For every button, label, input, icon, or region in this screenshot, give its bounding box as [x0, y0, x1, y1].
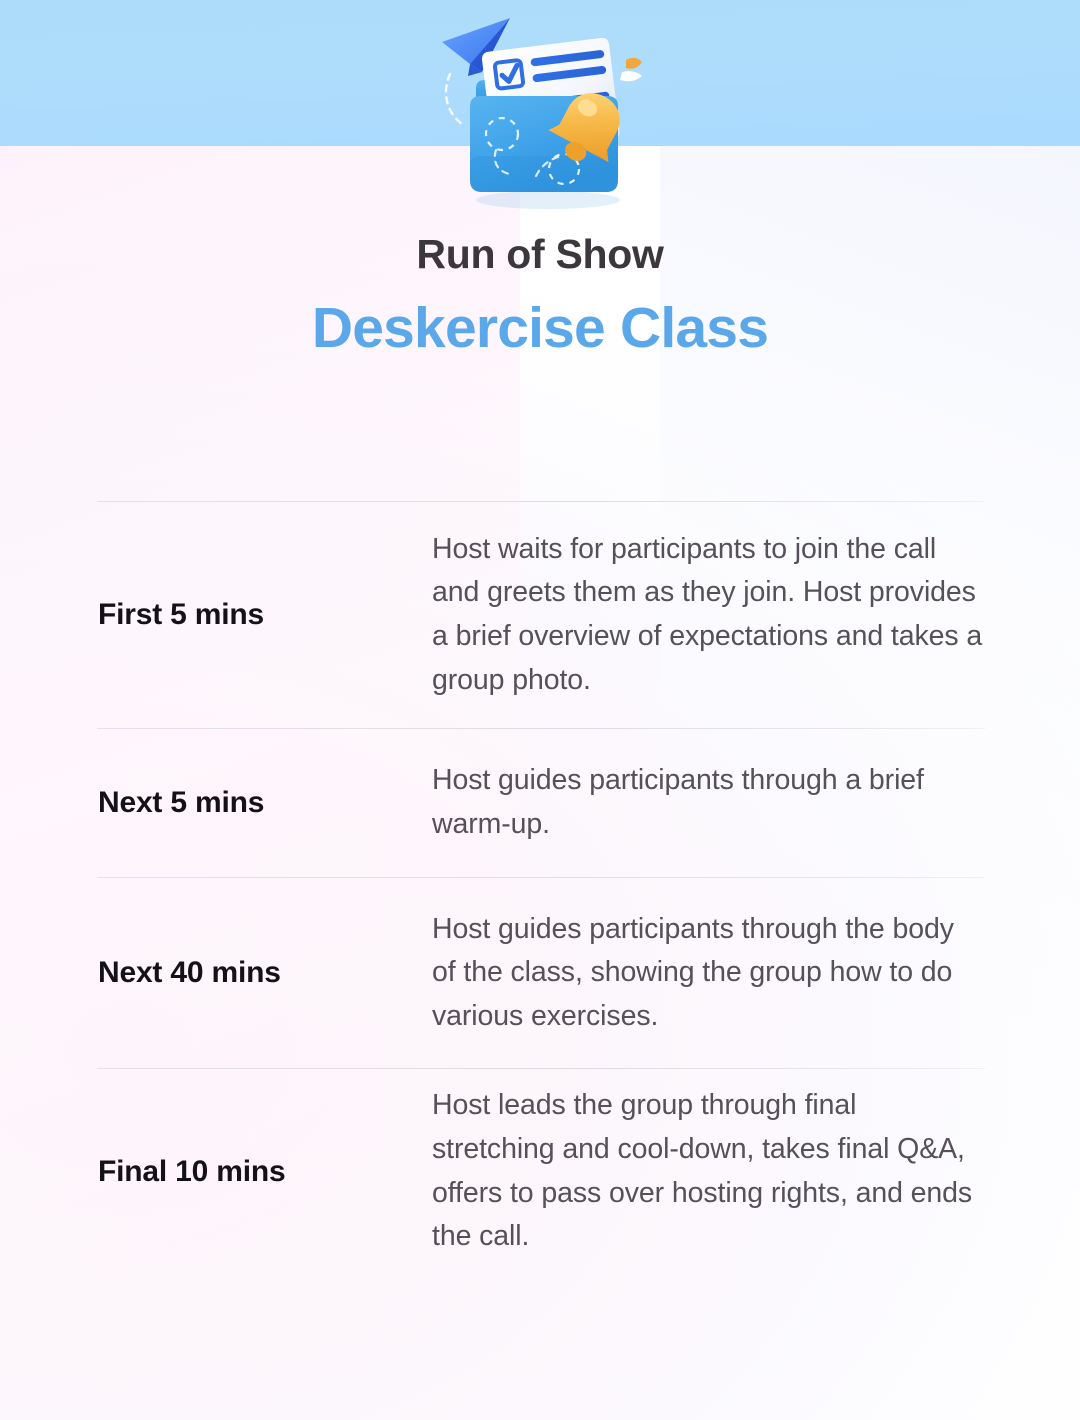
confetti-icon	[620, 58, 642, 81]
row-time-label: Next 5 mins	[97, 786, 432, 820]
row-time-label: Next 40 mins	[97, 956, 432, 990]
row-time-label: Final 10 mins	[97, 1155, 432, 1189]
row-description: Host waits for participants to join the …	[432, 528, 985, 702]
table-row: Next 5 mins Host guides participants thr…	[97, 729, 985, 877]
dashed-swirl-icon	[446, 74, 462, 124]
row-description: Host guides participants through a brief…	[432, 759, 985, 846]
envelope-checklist-illustration	[436, 14, 652, 214]
row-time-label: First 5 mins	[97, 598, 432, 632]
row-description: Host guides participants through the bod…	[432, 908, 985, 1039]
title-block: Run of Show Deskercise Class	[0, 232, 1080, 360]
row-description: Host leads the group through final stret…	[432, 1084, 985, 1258]
table-row: First 5 mins Host waits for participants…	[97, 502, 985, 728]
page-kicker: Run of Show	[0, 232, 1080, 276]
table-row: Final 10 mins Host leads the group throu…	[97, 1069, 985, 1274]
run-of-show-table: First 5 mins Host waits for participants…	[97, 501, 985, 1274]
table-row: Next 40 mins Host guides participants th…	[97, 878, 985, 1068]
illustration-shadow	[476, 191, 620, 209]
page-title: Deskercise Class	[0, 298, 1080, 360]
